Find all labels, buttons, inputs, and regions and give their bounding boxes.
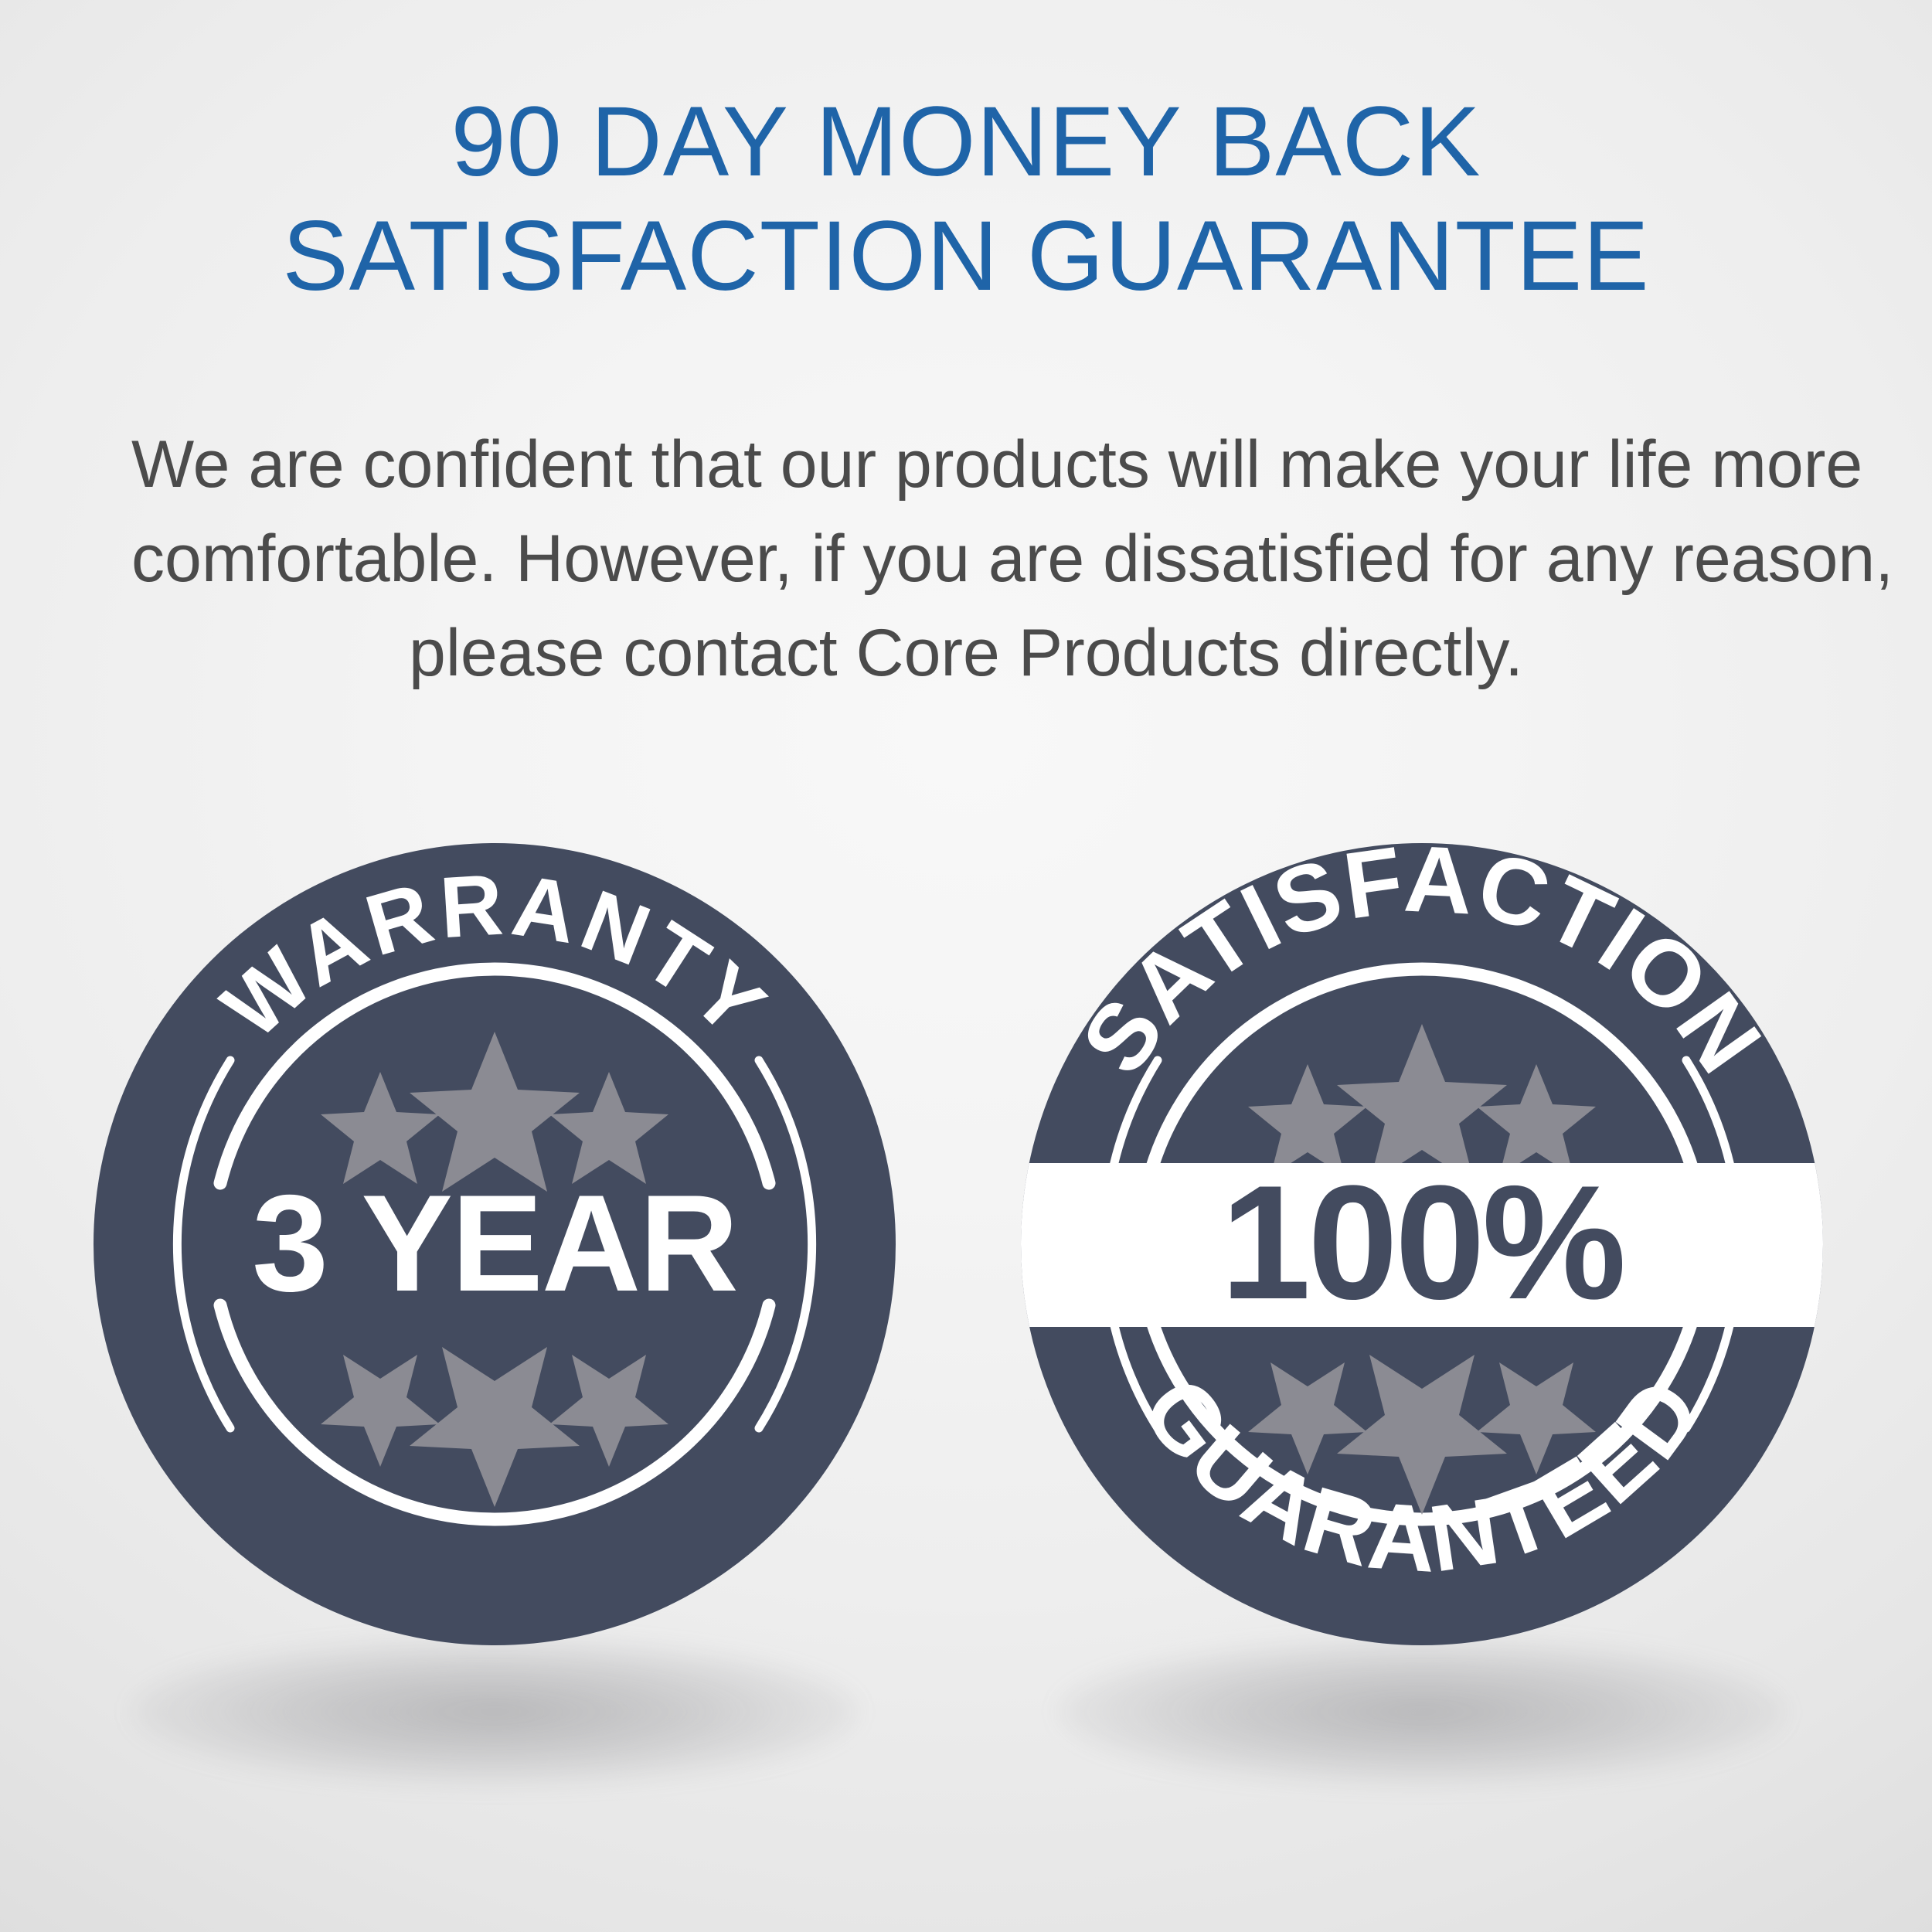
satisfaction-badge: SATISFACTION GUARANTEED 100% [997,796,1847,1801]
satisfaction-badge-shadow [1059,1638,1785,1785]
warranty-badge-shadow [131,1638,858,1785]
guarantee-description-line-1: We are confident that our products will … [131,417,1801,512]
warranty-center-label: 3 YEAR [252,1166,737,1320]
satisfaction-center-label: 100% [1220,1151,1623,1333]
guarantee-panel: 90 DAY MONEY BACK SATISFACTION GUARANTEE… [0,0,1932,1932]
satisfaction-badge-graphic: SATISFACTION GUARANTEED 100% [1012,835,1832,1654]
badge-row: WARRANTY 3 YEAR [0,796,1932,1801]
warranty-badge: WARRANTY 3 YEAR [70,796,920,1801]
guarantee-description-line-3: please contact Core Products directly. [131,606,1801,700]
page-title-line-2: SATISFACTION GUARANTEE [0,199,1932,314]
page-title: 90 DAY MONEY BACK SATISFACTION GUARANTEE [0,85,1932,315]
page-title-line-1: 90 DAY MONEY BACK [0,85,1932,199]
warranty-badge-graphic: WARRANTY 3 YEAR [85,835,904,1654]
guarantee-description-line-2: comfortable. However, if you are dissati… [131,512,1801,606]
guarantee-description: We are confident that our products will … [131,417,1801,700]
